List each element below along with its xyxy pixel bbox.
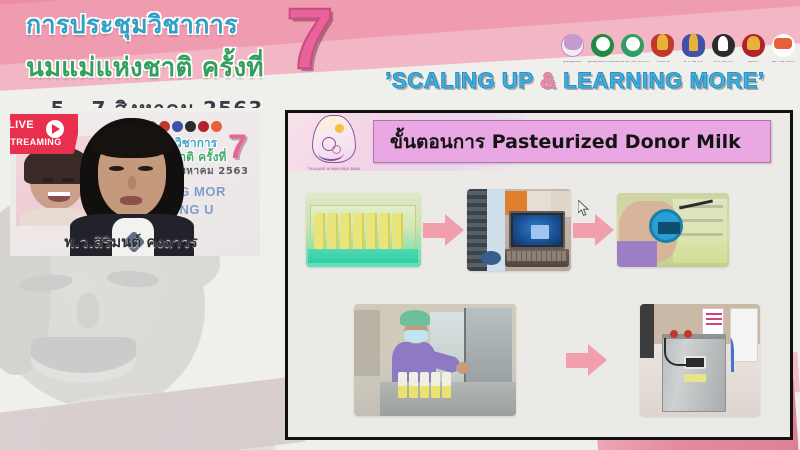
thermometer-display [658, 222, 680, 234]
logo-mark [626, 37, 640, 51]
logo-mark [657, 34, 668, 50]
logo-caption: กรมอนามัย กระทรวงสาธารณสุข [616, 61, 649, 64]
conference-title-line1: การประชุมวิชาการ [26, 5, 288, 45]
milk-bottle [431, 372, 440, 398]
arrow-head [445, 214, 464, 246]
machine-knob [670, 330, 678, 338]
arrow-head [595, 214, 614, 246]
process-row-top [306, 185, 781, 275]
machine-knob [684, 330, 692, 338]
keyboard-keys [507, 251, 567, 261]
laptop-screen [513, 215, 561, 245]
photo-nurse-loading-bottles [354, 304, 516, 416]
content-panel: THAILAND HUMAN MILK BANK ขั้นตอนการ Past… [285, 110, 793, 440]
backdrop-logo [211, 121, 222, 132]
bottle-row [398, 370, 460, 398]
sponsor-logo-royal-patronage: มูลนิธิศูนย์นมแม่ [560, 33, 585, 58]
sponsor-logo-ministry-public-health: กรมอนามัย กระทรวงสาธารณสุข [620, 33, 645, 58]
milk-bottle [392, 213, 403, 251]
rack-base [308, 249, 418, 263]
sponsor-logo-nursing-council: สภาการพยาบาล [711, 33, 736, 58]
speaker-bangs [92, 126, 172, 158]
logo-caption: สสส. THAI HEALTH [767, 61, 800, 64]
logo-mark [689, 33, 698, 51]
shelf-box-cream [527, 191, 551, 213]
sponsor-logo-royal-crest: สภาการพยาบาล [681, 33, 706, 58]
milk-bottle [442, 372, 451, 398]
play-triangle-icon [46, 120, 64, 138]
milk-bottle [314, 213, 325, 251]
surgical-cap [400, 310, 430, 326]
baby-figure [332, 145, 341, 154]
backdrop-logo [198, 121, 209, 132]
milk-bottle [327, 213, 338, 251]
live-streaming-badge: LIVE STREAMING [10, 114, 78, 154]
arrow-head [588, 344, 607, 376]
top-banner: การประชุมวิชาการ นมแม่แห่งชาติ ครั้งที่ … [0, 0, 800, 108]
tagline-ampersand: & [540, 68, 557, 93]
laptop-lid [509, 211, 565, 249]
door-frame [640, 304, 654, 358]
conference-title-block: การประชุมวิชาการ นมแม่แห่งชาติ ครั้งที่ … [26, 5, 288, 108]
whiteboard [730, 308, 758, 362]
milk-bottle [353, 213, 364, 251]
logo-mark [747, 36, 760, 50]
speaker-name-caption: พ.ว.สิริมนต์ คงถาวร [0, 230, 262, 254]
process-arrow-2 [571, 213, 617, 247]
sponsor-logo-royal-college: ราชวิทยาลัย [650, 33, 675, 58]
speaker-nose [128, 176, 136, 190]
live-badge-label: LIVE [10, 119, 34, 131]
photo-hand-holding-digital-thermometer [617, 193, 729, 267]
sponsor-logo-thaihealth: สสส. THAI HEALTH [771, 33, 796, 58]
child-eye-left [42, 178, 54, 182]
milk-bottle [366, 213, 377, 251]
sponsor-logo-strip: มูลนิธิศูนย์นมแม่ ศูนย์นมแม่แห่งประเทศไท… [560, 26, 796, 64]
mouse-pointer [578, 200, 590, 217]
logo-caption: แพทยสภา [737, 61, 770, 64]
digital-thermometer-gauge [649, 209, 683, 243]
logo-mark [596, 37, 610, 51]
mouse-pointer-icon [578, 200, 590, 217]
logo-caption: มูลนิธิศูนย์นมแม่ [556, 61, 589, 64]
streaming-label: STREAMING [10, 137, 62, 147]
panel-title-banner: ขั้นตอนการ Pasteurized Donor Milk [373, 120, 771, 163]
human-milk-bank-drop-icon: THAILAND HUMAN MILK BANK [306, 115, 362, 169]
machine-blue-tube [724, 338, 734, 372]
logo-mark [718, 36, 728, 51]
wall-sign [702, 308, 724, 336]
panel-title-text: ขั้นตอนการ Pasteurized Donor Milk [390, 127, 741, 157]
process-arrow-1 [421, 213, 467, 247]
milk-bottle [340, 213, 351, 251]
sponsor-logo-medical-council: แพทยสภา [741, 33, 766, 58]
milk-drop-highlight [335, 124, 344, 133]
speaker-eye-left [109, 166, 124, 171]
milk-bottle [409, 372, 418, 398]
logo-caption: สภาการพยาบาล [677, 61, 710, 64]
sponsor-logo-breastfeeding-foundation: ศูนย์นมแม่แห่งประเทศไทย [590, 33, 615, 58]
milk-bottle [420, 372, 429, 398]
logo-mark [564, 34, 582, 50]
surgical-mask [404, 330, 428, 343]
edition-number: 7 [286, 0, 334, 82]
speaker-eye-right [138, 166, 153, 171]
photo-pasteurizer-machine [640, 304, 760, 416]
watermark-nose [77, 293, 99, 329]
lab-cabinet [354, 310, 380, 376]
laptop-keyboard-base [505, 249, 569, 267]
watermark-mouth [31, 337, 136, 383]
backdrop-edition-number: 7 [228, 130, 247, 164]
process-arrow-3 [564, 343, 610, 377]
screen-window-icon [531, 225, 549, 239]
milk-bottle [379, 213, 390, 251]
panel-header: THAILAND HUMAN MILK BANK ขั้นตอนการ Past… [288, 113, 793, 171]
process-row-bottom [306, 295, 781, 425]
milk-bank-logo-caption: THAILAND HUMAN MILK BANK [302, 167, 366, 171]
purple-sleeve [617, 241, 657, 267]
machine-label [684, 374, 706, 382]
machine-display-panel [684, 356, 706, 369]
logo-mark [774, 38, 792, 50]
photo-laptop-record-keeping [467, 189, 571, 271]
tagline-prefix: ’SCALING UP [385, 68, 540, 93]
conference-date: 5 - 7 สิงหาคม 2563 [26, 93, 288, 108]
tagline-suffix: LEARNING MORE’ [556, 68, 764, 93]
conference-tagline: ’SCALING UP & LEARNING MORE’ [360, 70, 790, 92]
speaker-mouth [120, 196, 142, 205]
photo-milk-bottle-racks [306, 193, 421, 267]
logo-caption: สภาการพยาบาล [707, 61, 740, 64]
child-mouth [48, 192, 70, 202]
slide-root: การประชุมวิชาการ นมแม่แห่งชาติ ครั้งที่ … [0, 0, 800, 450]
machine-hose [664, 338, 686, 366]
logo-caption: ศูนย์นมแม่แห่งประเทศไทย [586, 61, 619, 64]
computer-mouse [481, 251, 501, 265]
logo-caption: ราชวิทยาลัย [646, 61, 679, 64]
conference-title-line2: นมแม่แห่งชาติ ครั้งที่ [26, 47, 288, 88]
milk-bottle [398, 372, 407, 398]
